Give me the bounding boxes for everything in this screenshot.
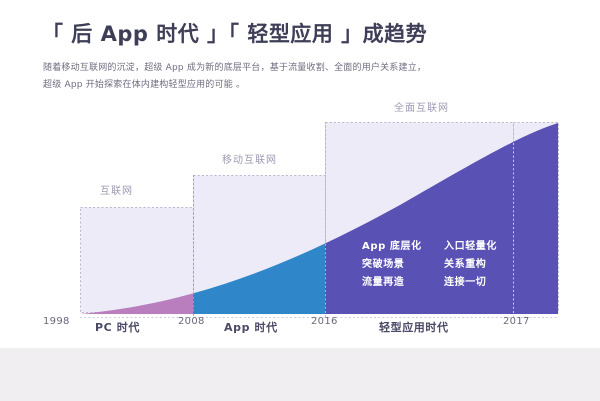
axis-era-light-app: 轻型应用时代 <box>379 319 449 335</box>
axis-year-2016: 2016 <box>311 316 338 327</box>
axis-era-pc: PC 时代 <box>95 319 140 335</box>
axis-era-app: App 时代 <box>224 319 278 335</box>
keyword-item: 关系重构 <box>444 257 497 272</box>
era-caption-internet: 互联网 <box>100 182 133 197</box>
era-panel-internet <box>81 208 194 313</box>
screenshot-root: 「 后 App 时代 」「 轻型应用 」成趋势 随着移动互联网的沉淀，超级 Ap… <box>0 0 600 401</box>
page-title: 「 后 App 时代 」「 轻型应用 」成趋势 <box>42 18 427 48</box>
subtitle-line-2: 超级 App 开始探索在体内建构轻型应用的可能 。 <box>43 77 513 94</box>
subtitle-line-1: 随着移动互联网的沉淀，超级 App 成为新的底层平台，基于流量收割、全面的用户关… <box>43 60 513 77</box>
era-caption-mobile-internet: 移动互联网 <box>222 151 277 166</box>
axis-year-2008: 2008 <box>178 316 205 327</box>
keyword-item: 流量再造 <box>362 275 434 290</box>
keyword-list: App 底层化 入口轻量化 突破场景 关系重构 流量再造 连接一切 <box>362 239 497 290</box>
page-subtitle: 随着移动互联网的沉淀，超级 App 成为新的底层平台，基于流量收割、全面的用户关… <box>43 60 513 94</box>
infographic-card: 「 后 App 时代 」「 轻型应用 」成趋势 随着移动互联网的沉淀，超级 Ap… <box>0 0 600 348</box>
growth-area-chart <box>0 95 600 340</box>
keyword-item: 入口轻量化 <box>444 239 497 254</box>
chart-svg <box>0 95 600 340</box>
keyword-item: 突破场景 <box>362 257 434 272</box>
era-caption-full-internet: 全面互联网 <box>394 99 449 114</box>
axis-year-1998: 1998 <box>43 316 70 327</box>
keyword-item: App 底层化 <box>362 239 434 254</box>
axis-year-2017: 2017 <box>503 316 530 327</box>
keyword-item: 连接一切 <box>444 275 497 290</box>
